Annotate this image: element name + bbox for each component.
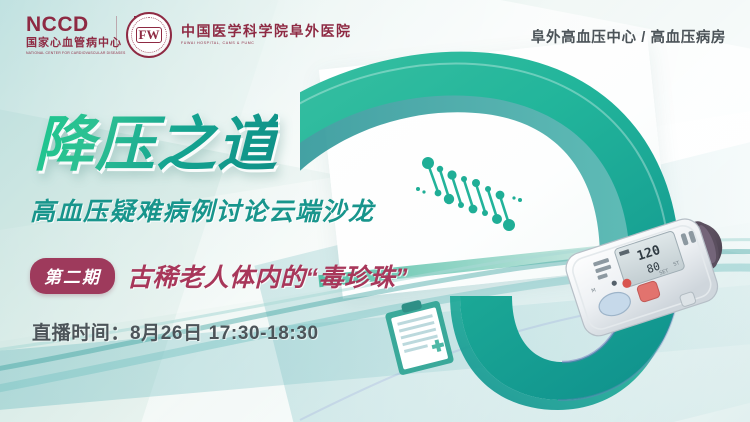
dna-helix-icon: [414, 148, 534, 253]
poster-header: NCCD 国家心血管病中心 NATIONAL CENTER FOR CARDIO…: [0, 0, 750, 66]
poster-main-title: 降压之道: [34, 96, 278, 183]
episode-number-badge: 第二期: [30, 258, 115, 294]
fuwai-seal-icon: FW: [126, 12, 172, 58]
logo-fuwai[interactable]: FW 中国医学科学院阜外医院 FUWAI HOSPITAL, CAMS & PU…: [126, 12, 352, 58]
fuwai-english-name: FUWAI HOSPITAL, CAMS & PUMC: [181, 42, 352, 46]
fuwai-text-block: 中国医学科学院阜外医院 FUWAI HOSPITAL, CAMS & PUMC: [181, 24, 352, 46]
poster-subtitle: 高血压疑难病例讨论云端沙龙: [30, 192, 375, 228]
logo-divider: [116, 16, 117, 50]
nccd-english-name: NATIONAL CENTER FOR CARDIOVASCULAR DISEA…: [26, 52, 125, 55]
nccd-text-block: NCCD 国家心血管病中心 NATIONAL CENTER FOR CARDIO…: [26, 14, 130, 55]
blood-pressure-monitor-illustration: 120 80 M SET ST: [565, 212, 750, 347]
fuwai-monogram: FW: [136, 27, 163, 44]
nccd-abbr: NCCD: [26, 14, 89, 35]
episode-topic-title: 古稀老人体内的“毒珍珠”: [127, 258, 408, 294]
poster-canvas: 120 80 M SET ST: [0, 0, 750, 422]
nccd-chinese-name: 国家心血管病中心: [26, 38, 122, 49]
department-label: 阜外高血压中心 / 高血压病房: [531, 26, 726, 47]
episode-row: 第二期 古稀老人体内的“毒珍珠”: [30, 258, 408, 294]
live-broadcast-time: 直播时间：8月26日 17:30-18:30: [32, 318, 319, 345]
fuwai-chinese-name: 中国医学科学院阜外医院: [181, 24, 352, 38]
